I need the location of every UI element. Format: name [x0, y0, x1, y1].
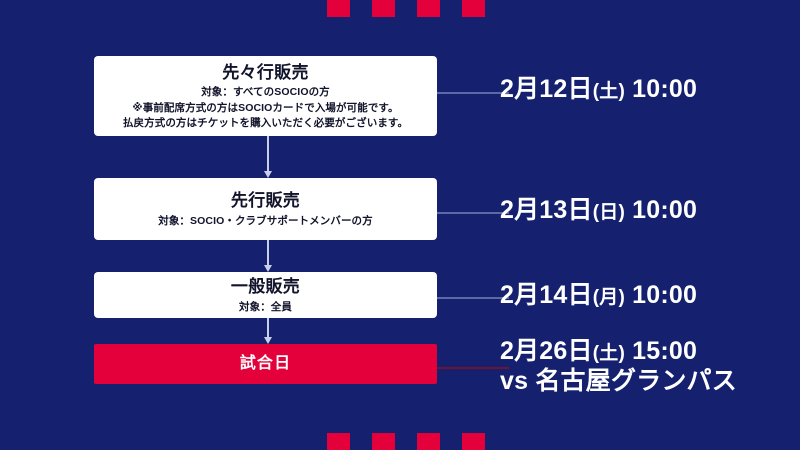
flow-node-title: 先行販売	[231, 190, 300, 212]
match-opponent: vs 名古屋グランパス	[500, 367, 790, 397]
date-label-advance-advance-sale: 2月12日(土) 10:00	[500, 75, 790, 105]
date-time: 10:00	[632, 281, 697, 309]
flow-node-title: 一般販売	[231, 276, 300, 298]
decoration-square	[462, 0, 485, 17]
date-label-match-day: 2月26日(土) 15:00 vs 名古屋グランパス	[500, 337, 790, 396]
flow-node-subtitle: ※事前配席方式の方はSOCIOカードで入場が可能です。	[132, 101, 398, 115]
ticket-sales-schedule-graphic: 先々行販売 対象：すべてのSOCIOの方 ※事前配席方式の方はSOCIOカードで…	[0, 0, 800, 450]
date-weekday: (日)	[593, 202, 625, 223]
flow-node-advance-advance-sale: 先々行販売 対象：すべてのSOCIOの方 ※事前配席方式の方はSOCIOカードで…	[94, 56, 437, 136]
date-value: 2月14日	[500, 281, 593, 309]
date-weekday: (土)	[593, 343, 625, 364]
decoration-square	[417, 0, 440, 17]
date-value: 2月13日	[500, 196, 593, 224]
flow-arrow-down	[267, 240, 269, 266]
date-value: 2月26日	[500, 337, 593, 365]
date-value: 2月12日	[500, 75, 593, 103]
decoration-square	[417, 433, 440, 450]
flow-node-subtitle: 対象：すべてのSOCIOの方	[201, 85, 330, 99]
date-time: 15:00	[632, 337, 697, 365]
decoration-square	[372, 433, 395, 450]
date-time: 10:00	[632, 75, 697, 103]
flow-node-subtitle: 対象：SOCIO・クラブサポートメンバーの方	[158, 214, 373, 228]
date-connector-line	[437, 212, 509, 214]
flow-node-title: 試合日	[240, 353, 292, 374]
date-connector-line	[437, 297, 509, 299]
flow-node-subtitle: 対象：全員	[239, 300, 292, 314]
flow-node-title: 先々行販売	[222, 62, 309, 84]
flow-node-subtitle: 払戻方式の方はチケットを購入いただく必要がございます。	[123, 116, 408, 130]
flow-arrow-down	[267, 136, 269, 172]
flow-arrow-down	[267, 318, 269, 338]
date-weekday: (土)	[593, 81, 625, 102]
decoration-square	[327, 433, 350, 450]
decoration-square	[462, 433, 485, 450]
decoration-square	[327, 0, 350, 17]
date-weekday: (月)	[593, 287, 625, 308]
date-time: 10:00	[632, 196, 697, 224]
flow-node-advance-sale: 先行販売 対象：SOCIO・クラブサポートメンバーの方	[94, 178, 437, 240]
top-decoration-bar	[0, 0, 800, 17]
bottom-decoration-bar	[0, 433, 800, 450]
date-connector-line	[437, 367, 509, 369]
decoration-square	[372, 0, 395, 17]
flow-node-general-sale: 一般販売 対象：全員	[94, 272, 437, 318]
date-label-advance-sale: 2月13日(日) 10:00	[500, 196, 790, 226]
date-connector-line	[437, 92, 509, 94]
flow-node-match-day: 試合日	[94, 344, 437, 384]
date-label-general-sale: 2月14日(月) 10:00	[500, 281, 790, 311]
